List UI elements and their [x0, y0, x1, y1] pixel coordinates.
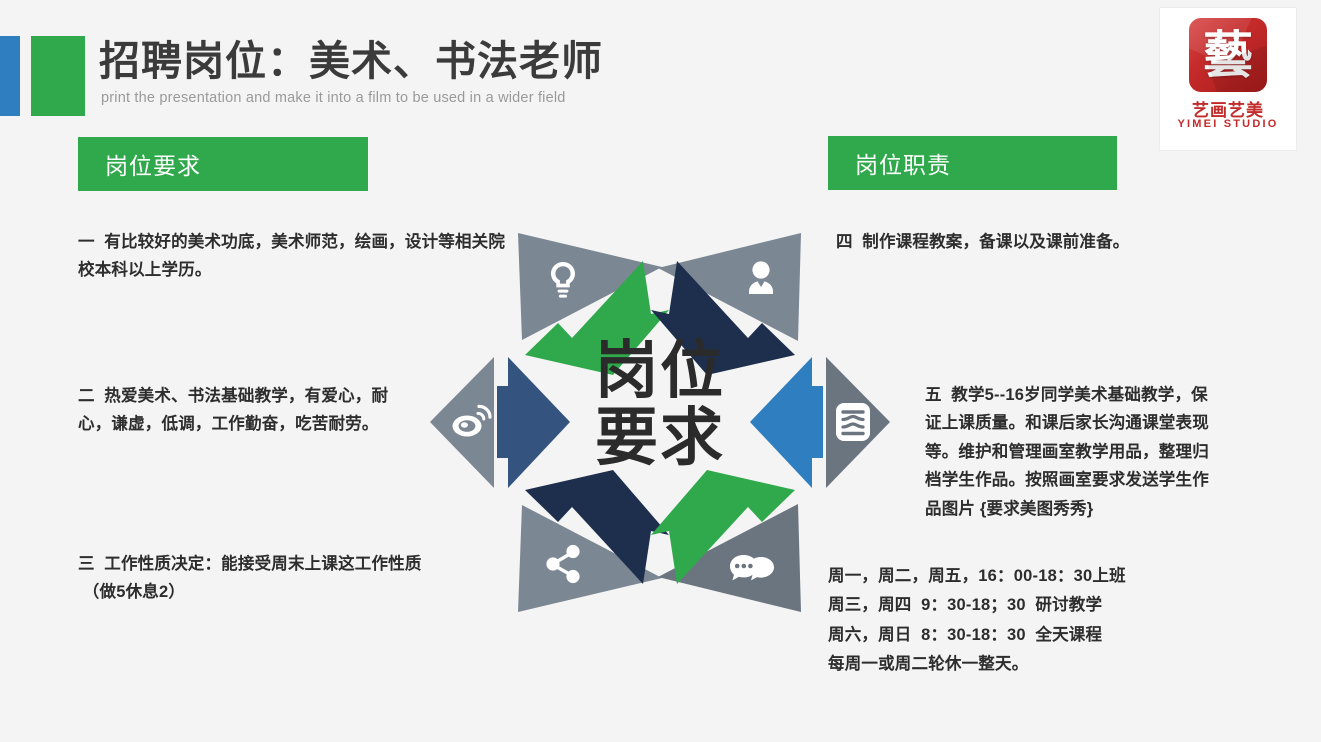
logo-name-en: YIMEI STUDIO	[1160, 118, 1296, 130]
hexagon-arrow-diagram	[430, 210, 890, 635]
header-accent-bar-green	[31, 36, 85, 116]
diagram-node-bottom-left	[518, 470, 669, 612]
section-heading-duties: 岗位职责	[828, 136, 1117, 190]
duty-item-1: 四 制作课程教案，备课以及课前准备。	[836, 228, 1216, 256]
cloud-logo-icon	[836, 403, 870, 441]
section-heading-requirements-label: 岗位要求	[105, 147, 201, 181]
page-subtitle: print the presentation and make it into …	[101, 90, 566, 106]
section-heading-requirements: 岗位要求	[78, 137, 368, 191]
diagram-node-bottom-right	[651, 470, 801, 612]
page-title: 招聘岗位：美术、书法老师	[99, 38, 603, 85]
diagram-node-left	[430, 357, 570, 488]
diagram-node-top-right	[651, 233, 801, 375]
requirement-item-3: 三 工作性质决定：能接受周末上课这工作性质 （做5休息2）	[78, 550, 478, 607]
header-accent-bar-blue	[0, 36, 20, 116]
requirement-item-2: 二 热爱美术、书法基础教学，有爱心，耐心，谦虚，低调，工作勤奋，吃苦耐劳。	[78, 382, 418, 439]
duty-item-2: 五 教学5--16岁同学美术基础教学，保证上课质量。和课后家长沟通课堂表现等。维…	[925, 381, 1217, 523]
logo-mark-icon: 藝	[1189, 18, 1267, 92]
section-heading-duties-label: 岗位职责	[855, 146, 951, 180]
brand-logo: 藝 艺画艺美 YIMEI STUDIO	[1160, 8, 1296, 150]
slide-canvas: 招聘岗位：美术、书法老师 print the presentation and …	[0, 0, 1321, 742]
logo-glyph: 藝	[1189, 18, 1267, 92]
diagram-node-top-left	[518, 233, 669, 375]
node-arrow-right	[750, 357, 823, 488]
node-arrow-left	[497, 357, 570, 488]
diagram-node-right	[750, 357, 890, 488]
